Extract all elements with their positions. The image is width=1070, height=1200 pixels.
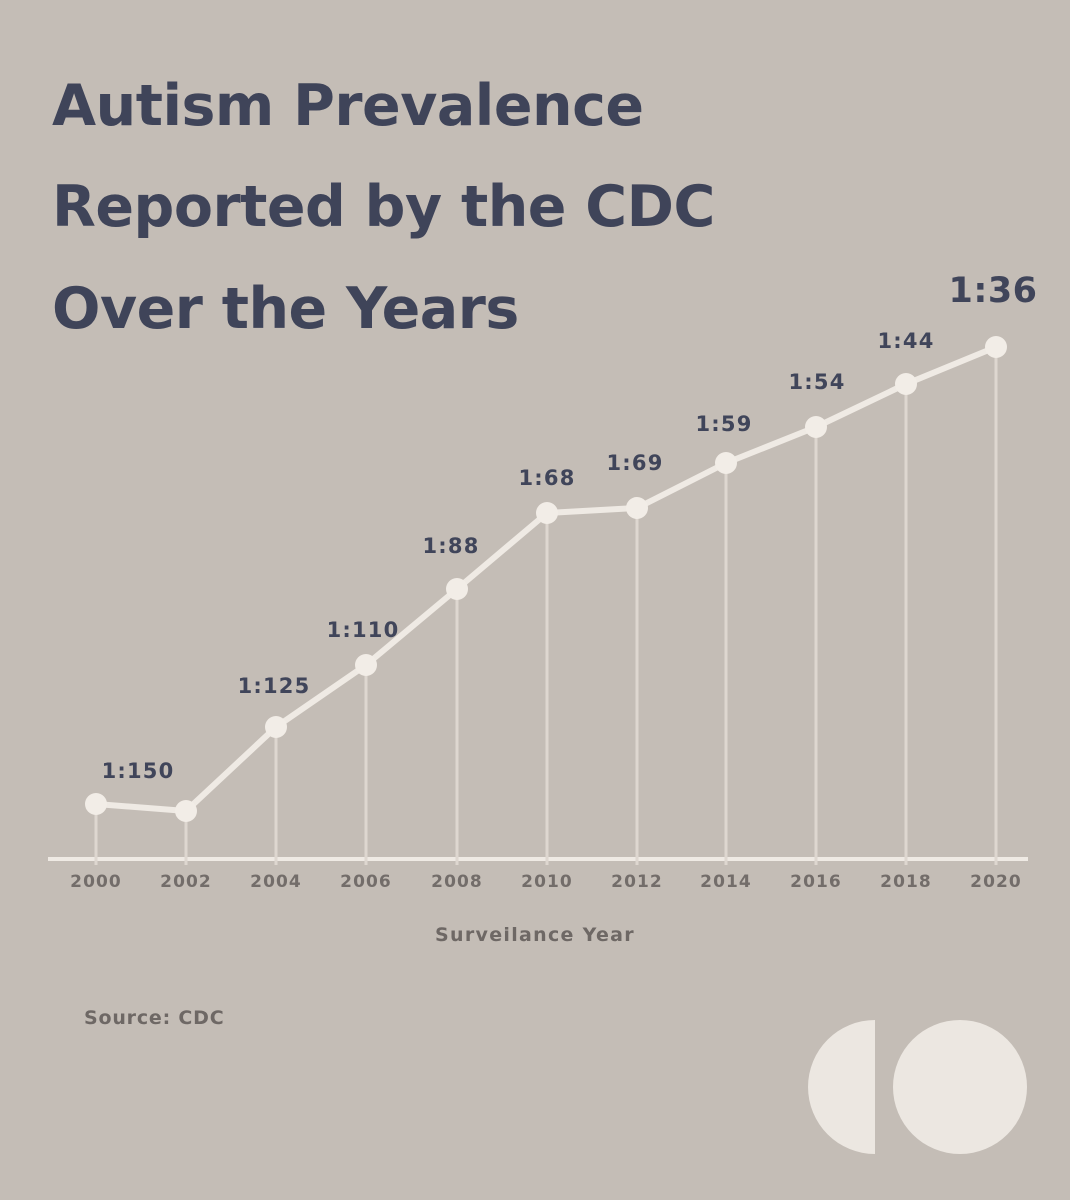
data-point-marker[interactable] (895, 373, 917, 395)
x-axis-tick-label: 2010 (521, 872, 573, 892)
data-point-marker[interactable] (985, 336, 1007, 358)
data-point-marker[interactable] (265, 716, 287, 738)
x-axis-tick-label: 2020 (970, 872, 1022, 892)
marker-stem-group (96, 347, 996, 859)
data-point-marker[interactable] (85, 793, 107, 815)
data-point-label: 1:110 (327, 618, 400, 642)
logo-half-disc-icon (808, 1020, 875, 1154)
data-point-label: 1:68 (518, 466, 575, 490)
data-point-marker[interactable] (446, 578, 468, 600)
x-axis-title: Surveilance Year (0, 924, 1070, 946)
x-axis-tick-label: 2016 (790, 872, 842, 892)
data-point-marker[interactable] (175, 800, 197, 822)
data-point-label: 1:36 (948, 271, 1037, 311)
chart-canvas: Autism Prevalence Reported by the CDC Ov… (0, 0, 1070, 1200)
data-point-label: 1:44 (877, 329, 934, 353)
x-axis-tick-label: 2002 (160, 872, 212, 892)
data-point-marker[interactable] (715, 452, 737, 474)
data-point-marker[interactable] (805, 416, 827, 438)
data-point-label: 1:150 (102, 759, 175, 783)
logo-circle-icon (893, 1020, 1027, 1154)
x-axis-tick-label: 2008 (431, 872, 483, 892)
data-point-label: 1:54 (788, 370, 845, 394)
x-axis-tick-label: 2014 (700, 872, 752, 892)
x-axis-tick-label: 2012 (611, 872, 663, 892)
x-axis-tick-label: 2018 (880, 872, 932, 892)
data-point-label: 1:69 (606, 451, 663, 475)
brand-logo (775, 1012, 1035, 1162)
data-point-marker[interactable] (536, 502, 558, 524)
x-axis-tick-label: 2004 (250, 872, 302, 892)
data-point-marker[interactable] (355, 654, 377, 676)
x-axis-tick-label: 2006 (340, 872, 392, 892)
data-point-label: 1:88 (422, 534, 479, 558)
data-point-marker[interactable] (626, 497, 648, 519)
x-axis-tick-label: 2000 (70, 872, 122, 892)
source-note: Source: CDC (84, 1007, 224, 1029)
data-point-label: 1:125 (238, 674, 311, 698)
data-point-label: 1:59 (695, 412, 752, 436)
